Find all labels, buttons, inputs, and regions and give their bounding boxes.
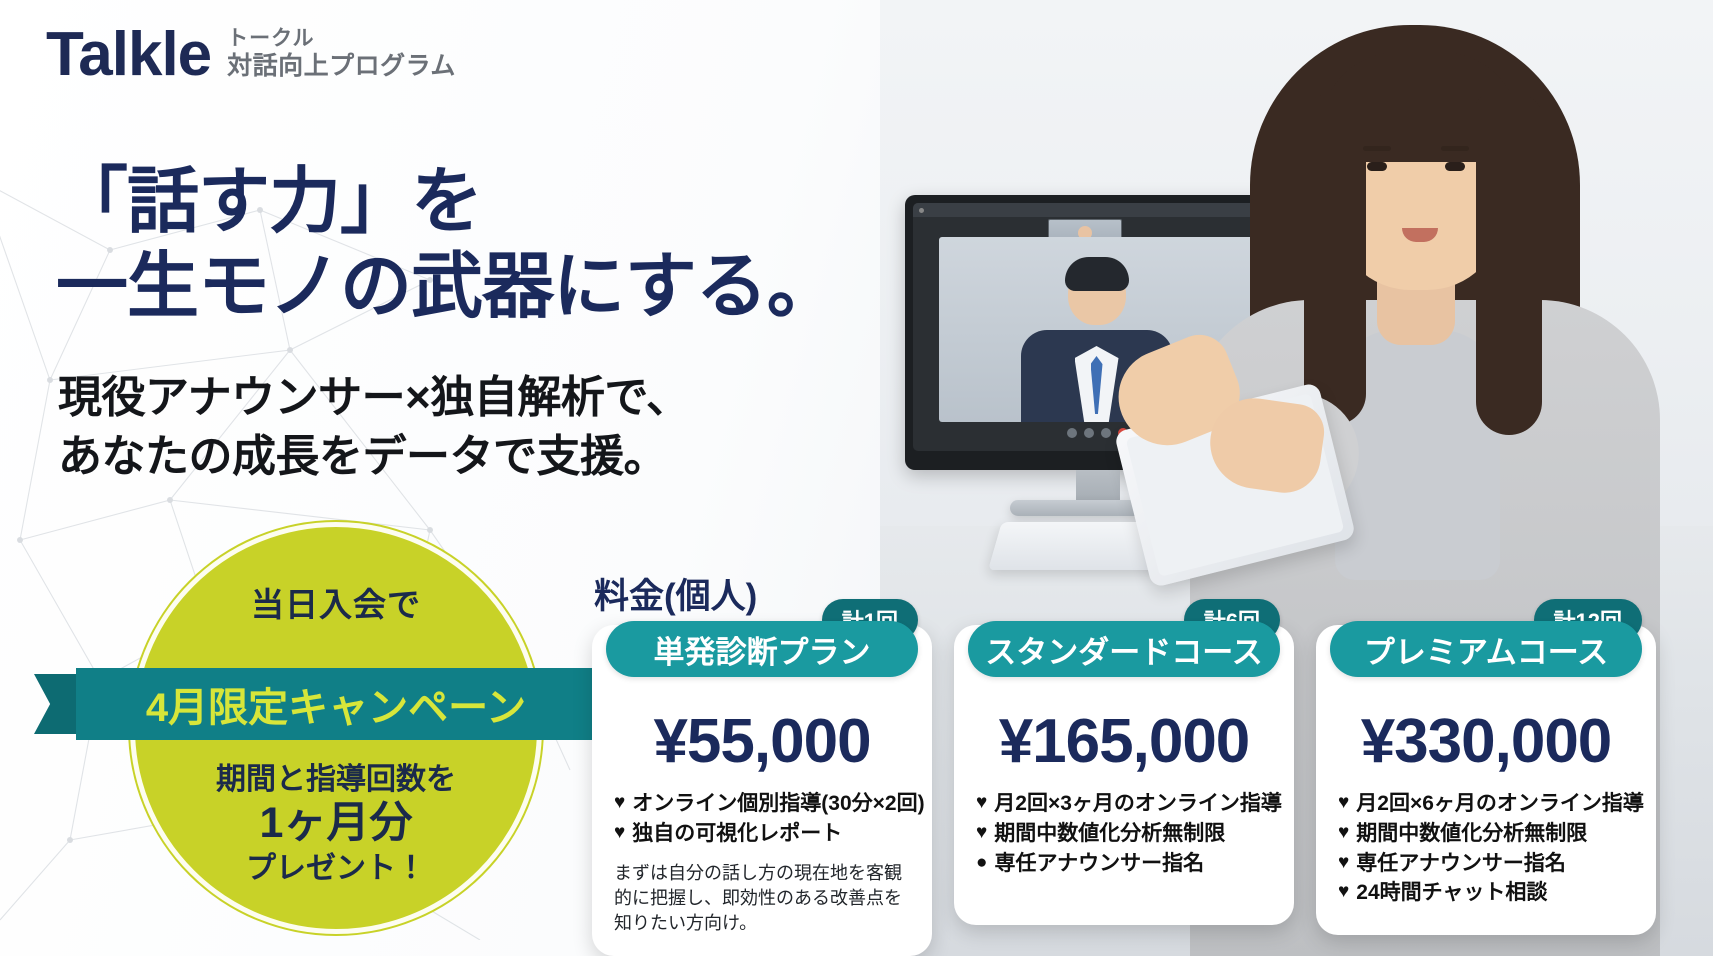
plan-feature-text: 24時間チャット相談: [1356, 878, 1547, 908]
subhead-line-1: 現役アナウンサー×独自解析で、: [58, 368, 690, 427]
heart-bullet-icon: ♥: [1338, 819, 1349, 848]
plan-feature-item: ♥ 期間中数値化分析無制限: [976, 819, 1272, 849]
plan-note: まずは自分の話し方の現在地を客観的に把握し、即効性のある改善点を知りたい方向け。: [610, 861, 914, 937]
plan-feature-item: ♥ 月2回×6ヶ月のオンライン指導: [1338, 789, 1634, 819]
video-app-titlebar: [913, 203, 1282, 217]
plan-feature-text: 期間中数値化分析無制限: [994, 819, 1225, 849]
plan-features: ♥ オンライン個別指導(30分×2回) ♥ 独自の可視化レポート: [610, 789, 914, 849]
plan-feature-item: ♥ オンライン個別指導(30分×2回): [614, 789, 910, 819]
monitor-stand-neck: [1076, 470, 1120, 502]
hero-headline: 「話す力」を 一生モノの武器にする。: [56, 160, 838, 330]
plan-feature-text: 期間中数値化分析無制限: [1356, 819, 1587, 849]
plan-feature-item: ♥ 月2回×3ヶ月のオンライン指導: [976, 789, 1272, 819]
headline-line-1: 「話す力」を: [56, 160, 838, 245]
plan-feature-item: ♥ 期間中数値化分析無制限: [1338, 819, 1634, 849]
heart-bullet-icon: ♥: [1338, 878, 1349, 907]
logo-tagline: 対話向上プログラム: [227, 53, 456, 81]
campaign-bottom-text: 期間と指導回数を 1ヶ月分 プレゼント！: [130, 762, 542, 887]
plan-feature-text: 月2回×3ヶ月のオンライン指導: [994, 789, 1282, 819]
heart-bullet-icon: ♥: [976, 819, 987, 848]
heart-bullet-icon: ♥: [976, 789, 987, 818]
woman-hair-left: [1304, 95, 1366, 425]
campaign-bottom-line-1: 期間と指導回数を: [130, 762, 542, 798]
woman-eye-left: [1367, 162, 1387, 171]
heart-bullet-icon: ♥: [614, 789, 625, 818]
campaign-bottom-line-2: 1ヶ月分: [130, 798, 542, 850]
pricing-cards: 計1回 単発診断プラン ¥55,000 ♥ オンライン個別指導(30分×2回) …: [592, 625, 1656, 956]
pricing-card[interactable]: 計6回 スタンダードコース ¥165,000 ♥ 月2回×3ヶ月のオンライン指導…: [954, 625, 1294, 925]
heart-bullet-icon: ♥: [1338, 789, 1349, 818]
logo-ruby: トークル: [227, 27, 456, 50]
plan-feature-text: 専任アナウンサー指名: [994, 849, 1204, 879]
plan-features: ♥ 月2回×6ヶ月のオンライン指導 ♥ 期間中数値化分析無制限 ♥ 専任アナウン…: [1334, 789, 1638, 908]
plan-feature-item: ♥ 24時間チャット相談: [1338, 878, 1634, 908]
pricing-card[interactable]: 計1回 単発診断プラン ¥55,000 ♥ オンライン個別指導(30分×2回) …: [592, 625, 932, 956]
plan-feature-text: オンライン個別指導(30分×2回): [632, 789, 924, 819]
pricing-section-title: 料金(個人): [594, 568, 757, 619]
plan-features: ♥ 月2回×3ヶ月のオンライン指導 ♥ 期間中数値化分析無制限 ● 専任アナウン…: [972, 789, 1276, 878]
plan-price: ¥330,000: [1334, 711, 1638, 773]
ribbon-band: 4月限定キャンペーン: [76, 668, 596, 740]
subhead-line-2: あなたの成長をデータで支援。: [58, 427, 690, 486]
brand-logo: Talkle トークル 対話向上プログラム: [46, 24, 456, 86]
campaign-top-text: 当日入会で: [130, 578, 542, 626]
campaign-bottom-line-3: プレゼント！: [130, 850, 542, 888]
woman-eye-right: [1445, 162, 1465, 171]
plan-name: スタンダードコース: [968, 621, 1280, 677]
heart-bullet-icon: ♥: [1338, 849, 1349, 878]
woman-hair-right: [1476, 95, 1542, 435]
campaign-badge: 当日入会で 4月限定キャンペーン 期間と指導回数を 1ヶ月分 プレゼント！: [130, 522, 542, 934]
woman-eyebrow-right: [1441, 146, 1469, 151]
campaign-ribbon-text: 4月限定キャンペーン: [146, 675, 526, 733]
heart-bullet-icon: ♥: [614, 819, 625, 848]
woman-eyebrow-left: [1363, 146, 1391, 151]
plan-feature-text: 月2回×6ヶ月のオンライン指導: [1356, 789, 1644, 819]
headline-line-2: 一生モノの武器にする。: [56, 245, 838, 330]
plan-feature-item: ● 専任アナウンサー指名: [976, 849, 1272, 879]
plan-feature-item: ♥ 独自の可視化レポート: [614, 819, 910, 849]
campaign-ribbon: 4月限定キャンペーン: [34, 668, 638, 740]
plan-feature-item: ♥ 専任アナウンサー指名: [1338, 849, 1634, 879]
pricing-card[interactable]: 計12回 プレミアムコース ¥330,000 ♥ 月2回×6ヶ月のオンライン指導…: [1316, 625, 1656, 935]
plan-name: 単発診断プラン: [606, 621, 918, 677]
plan-name: プレミアムコース: [1330, 621, 1642, 677]
hero-subheadline: 現役アナウンサー×独自解析で、 あなたの成長をデータで支援。: [58, 368, 690, 487]
plan-feature-text: 独自の可視化レポート: [632, 819, 842, 849]
plan-price: ¥165,000: [972, 711, 1276, 773]
plan-feature-text: 専任アナウンサー指名: [1356, 849, 1566, 879]
banner-root: Talkle トークル 対話向上プログラム 「話す力」を 一生モノの武器にする。…: [0, 0, 1713, 956]
plan-price: ¥55,000: [610, 711, 914, 773]
circle-bullet-icon: ●: [976, 849, 987, 878]
logo-subtext: トークル 対話向上プログラム: [227, 27, 456, 86]
logo-wordmark: Talkle: [46, 24, 211, 86]
